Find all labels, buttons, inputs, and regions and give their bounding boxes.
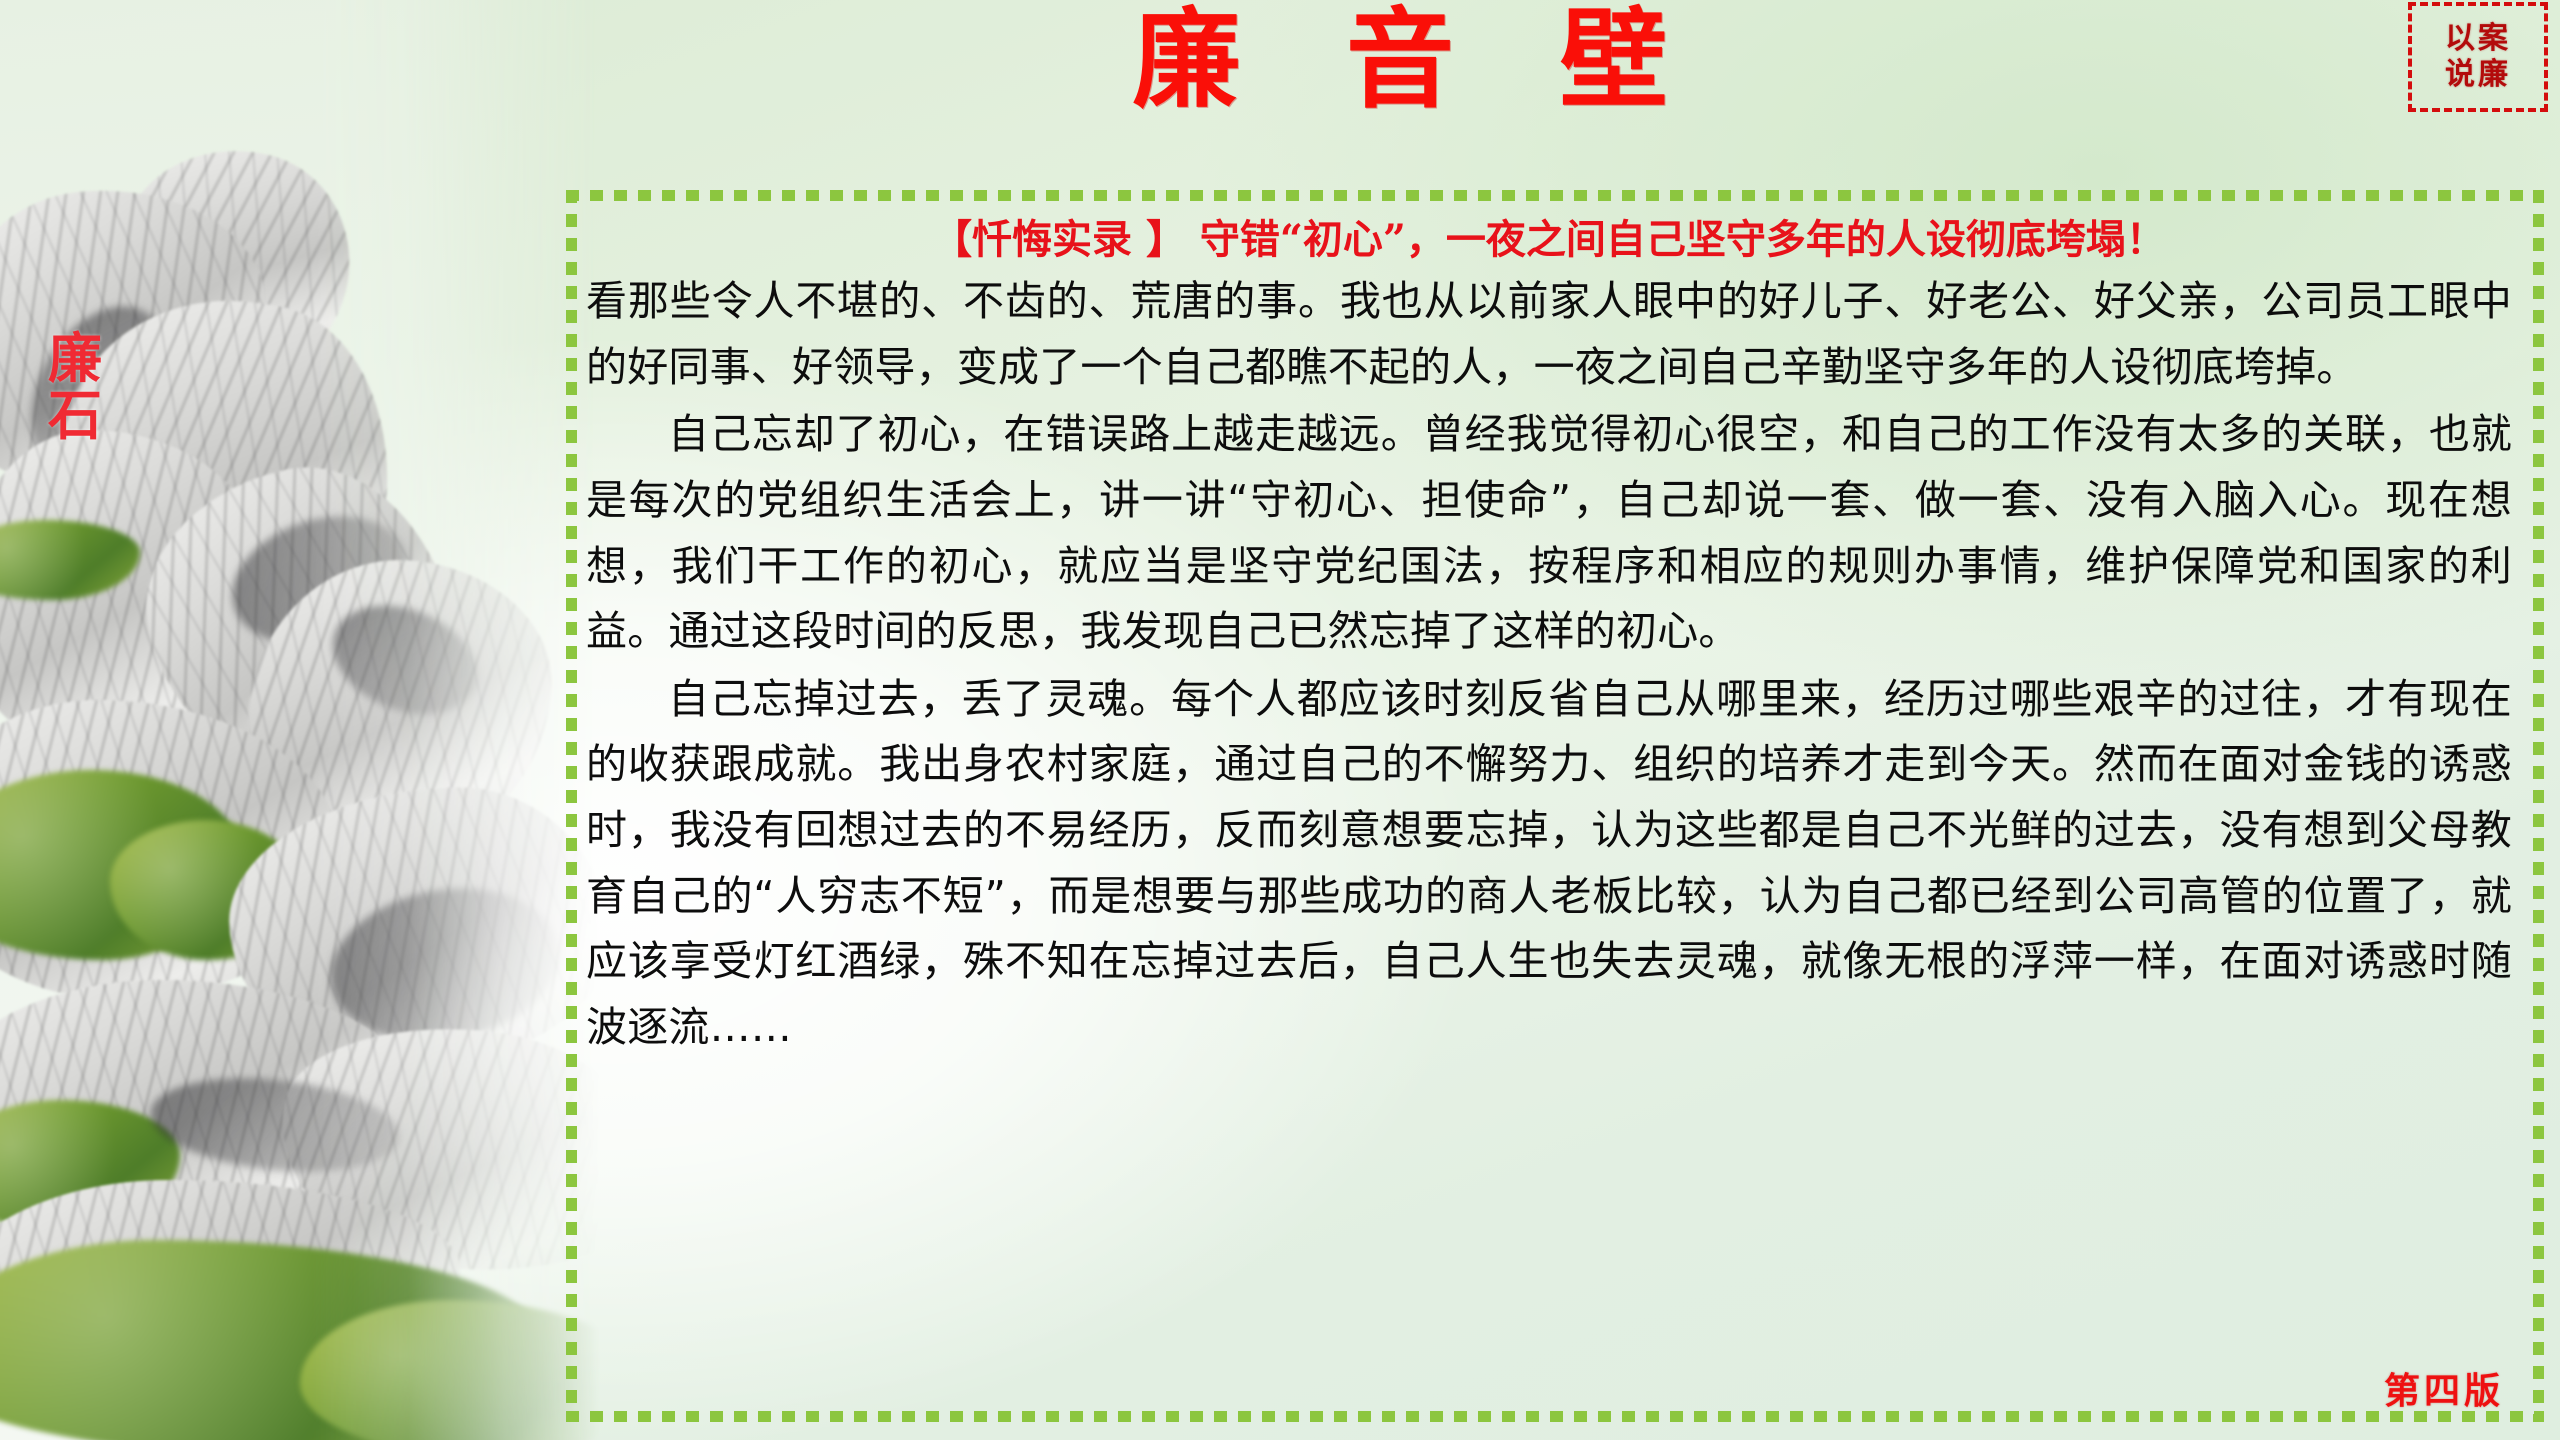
corner-stamp-line-1: 以案 xyxy=(2445,22,2511,57)
frame-edge-right xyxy=(2533,190,2544,1422)
cliff-photo: 廉 石 xyxy=(0,0,600,1440)
article-body: 【忏悔实录 】 守错“初心”，一夜之间自己坚守多年的人设彻底垮塌！ 看那些令人不… xyxy=(586,206,2526,1406)
photo-seal-text: 廉 石 xyxy=(26,330,126,443)
photo-seal-char-2: 石 xyxy=(26,387,126,444)
newsletter-page: 廉 石 廉 音 壁 以案 说廉 【忏悔实录 】 守错“初心”，一夜之间自己坚守多… xyxy=(0,0,2560,1440)
article-paragraph: 自己忘却了初心，在错误路上越走越远。曾经我觉得初心很空，和自己的工作没有太多的关… xyxy=(586,402,2512,664)
article-paragraph: 自己忘掉过去，丢了灵魂。每个人都应该时刻反省自己从哪里来，经历过哪些艰辛的过往，… xyxy=(586,667,2512,1061)
edition-marker: 第四版 xyxy=(2384,1362,2504,1414)
article-paragraph: 看那些令人不堪的、不齿的、荒唐的事。我也从以前家人眼中的好儿子、好老公、好父亲，… xyxy=(586,269,2512,400)
article-headline: 【忏悔实录 】 守错“初心”，一夜之间自己坚守多年的人设彻底垮塌！ xyxy=(586,216,2512,263)
corner-stamp-line-2: 说廉 xyxy=(2445,58,2511,93)
masthead-title: 廉 音 壁 xyxy=(1040,6,1760,114)
frame-edge-top xyxy=(566,190,2544,201)
photo-fade-mask xyxy=(0,0,600,1440)
frame-edge-bottom xyxy=(566,1411,2544,1422)
corner-stamp: 以案 说廉 xyxy=(2408,2,2548,112)
photo-seal-char-1: 廉 xyxy=(26,330,126,387)
